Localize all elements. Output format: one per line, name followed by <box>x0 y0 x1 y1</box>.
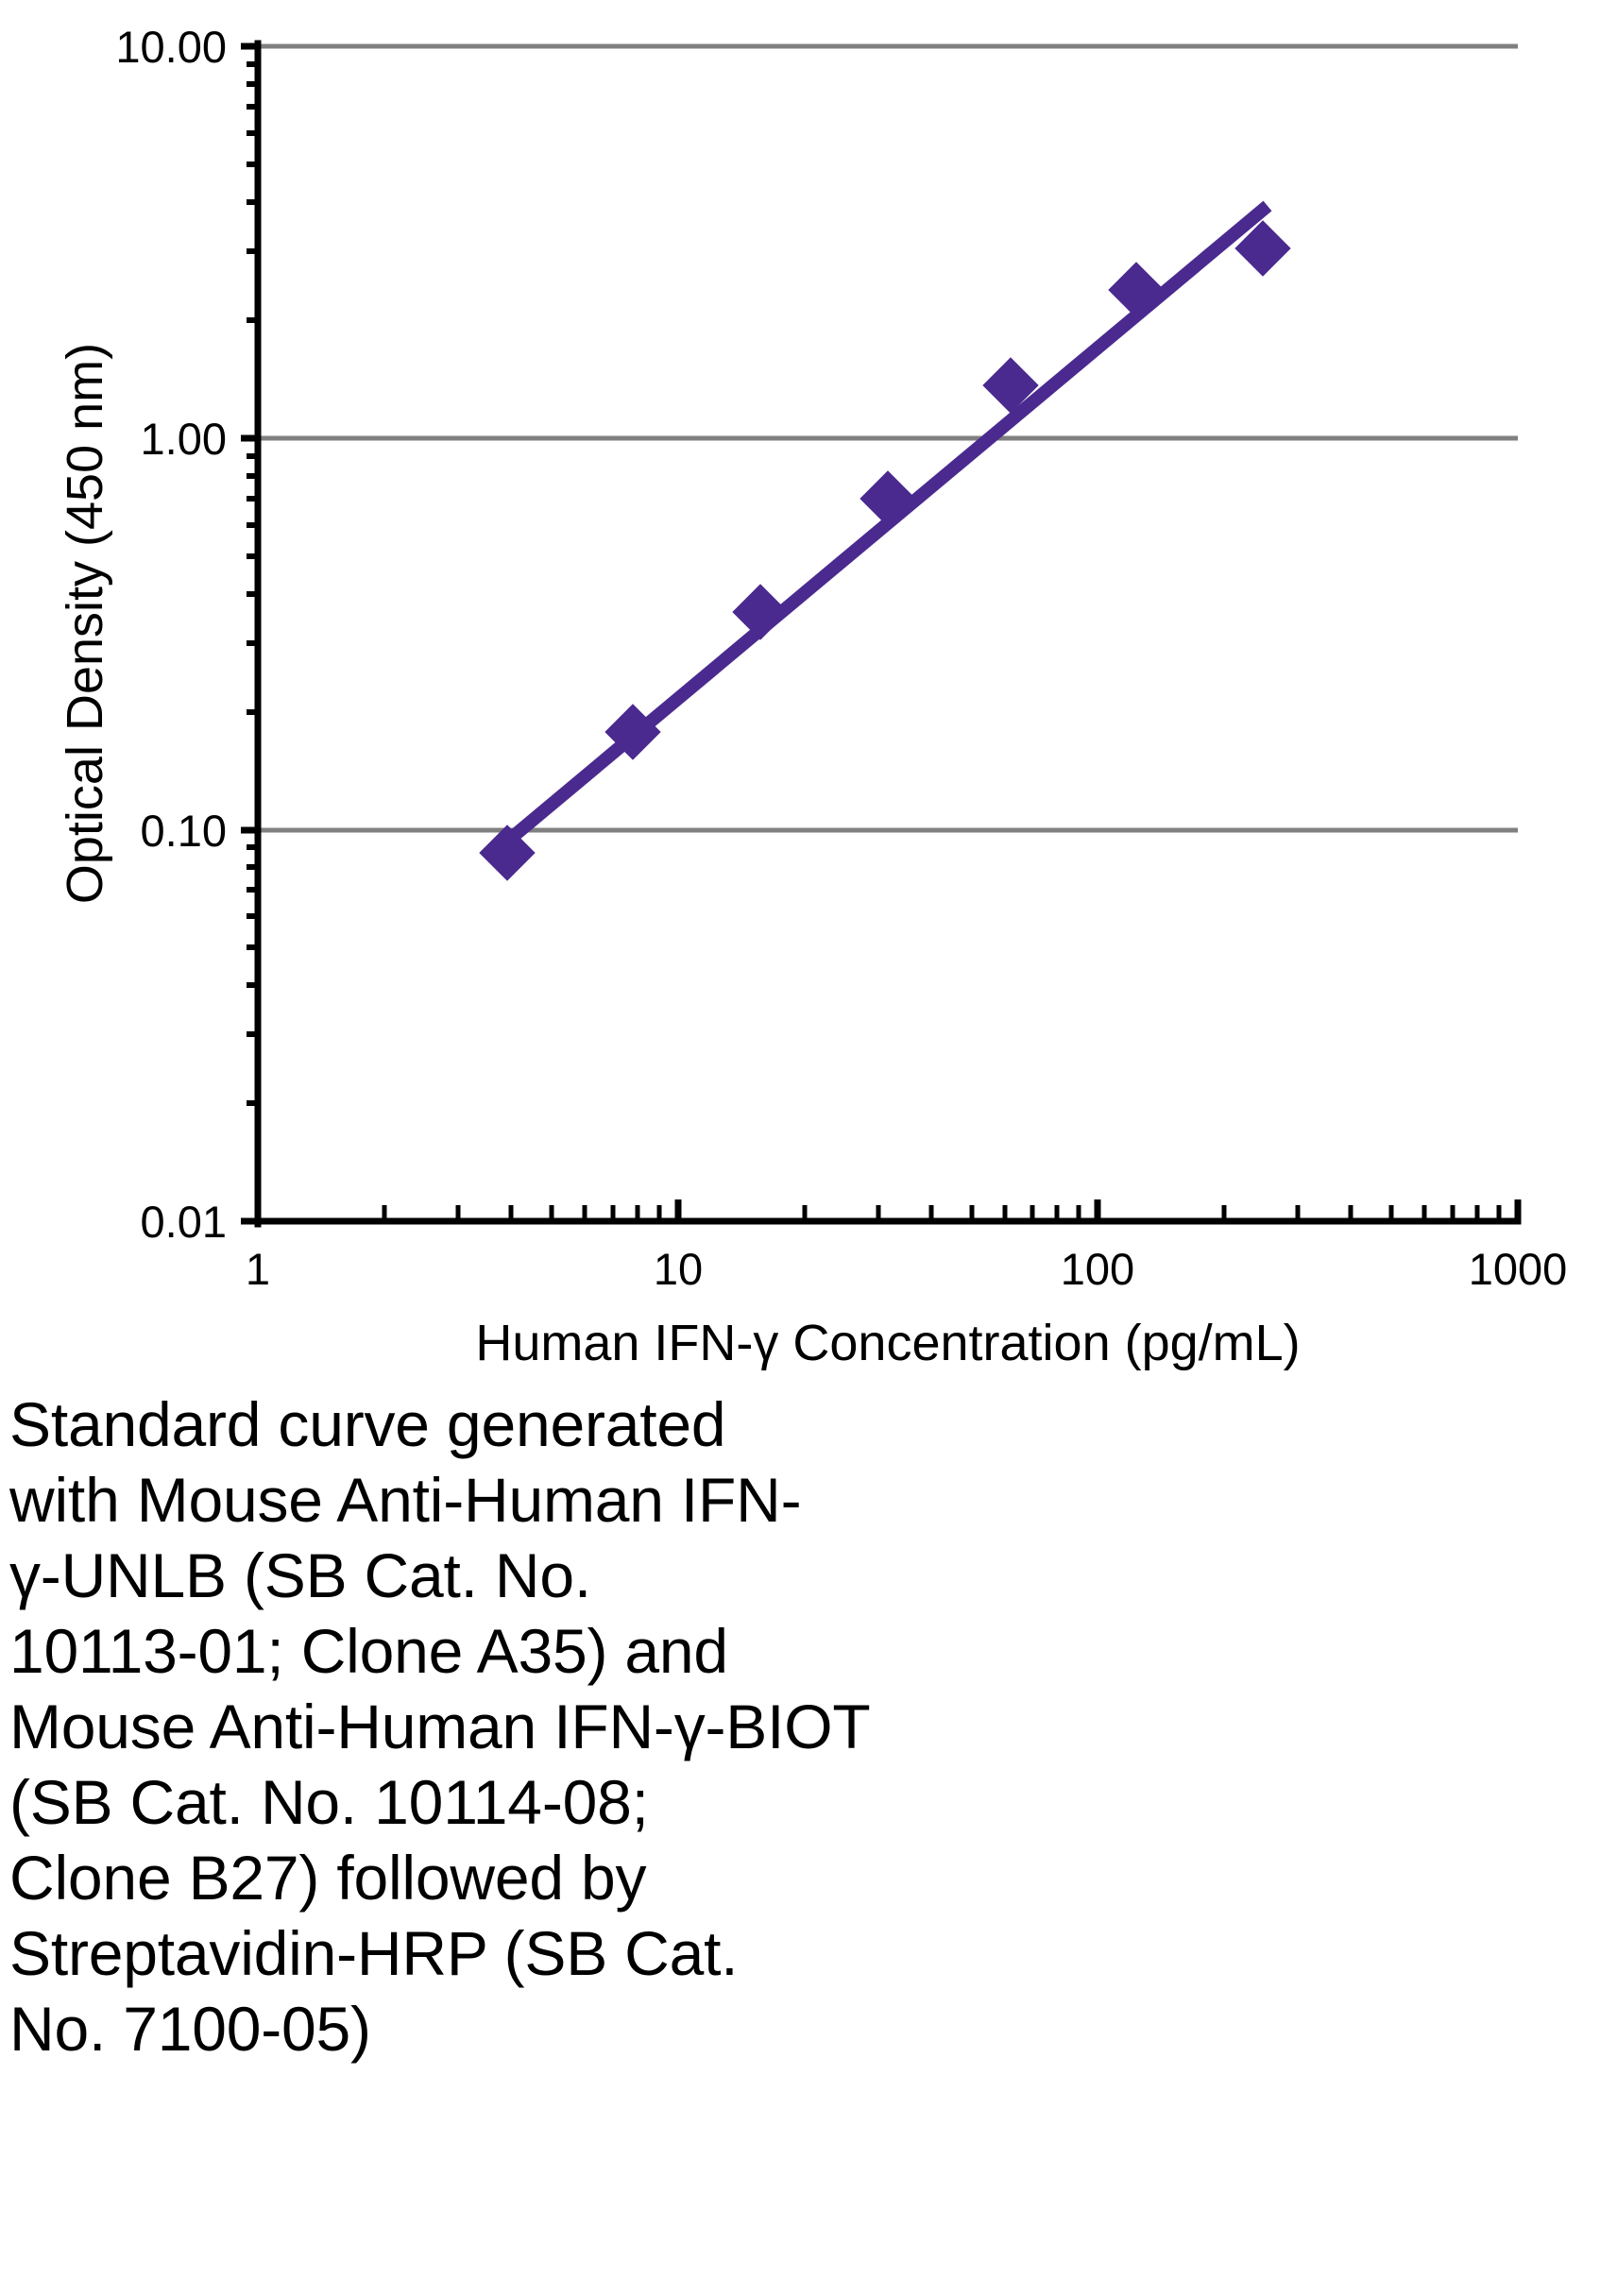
x-axis-title: Human IFN-γ Concentration (pg/mL) <box>475 1315 1300 1371</box>
caption-line: No. 7100-05) <box>9 1991 1048 2066</box>
data-point <box>860 470 915 526</box>
caption-line: (SB Cat. No. 10114-08; <box>9 1764 1048 1840</box>
data-point <box>732 584 788 639</box>
x-tick-label: 1 <box>246 1244 270 1294</box>
caption-line: γ-UNLB (SB Cat. No. <box>9 1538 1048 1613</box>
figure-caption: Standard curve generated with Mouse Anti… <box>9 1386 1048 2066</box>
caption-line: 10113-01; Clone A35) and <box>9 1613 1048 1689</box>
caption-line: Streptavidin-HRP (SB Cat. <box>9 1915 1048 1991</box>
y-axis-tick-labels: 10.00 1.00 0.10 0.01 <box>115 22 227 1247</box>
gridlines <box>258 46 1518 830</box>
data-point-markers <box>479 220 1290 880</box>
x-tick-label: 100 <box>1061 1244 1134 1294</box>
data-point <box>1108 262 1164 317</box>
x-axis-tick-labels: 1 10 100 1000 <box>246 1244 1567 1294</box>
y-tick-label: 0.10 <box>141 806 227 856</box>
y-tick-label: 10.00 <box>115 22 227 72</box>
y-axis-title: Optical Density (450 nm) <box>57 343 113 904</box>
y-tick-label: 0.01 <box>141 1197 227 1247</box>
x-tick-label: 1000 <box>1469 1244 1568 1294</box>
chart-figure: 10.00 1.00 0.10 0.01 1 10 100 1000 Optic… <box>0 0 1600 1379</box>
x-tick-label: 10 <box>654 1244 703 1294</box>
caption-line: with Mouse Anti-Human IFN- <box>9 1462 1048 1538</box>
caption-line: Mouse Anti-Human IFN-γ-BIOT <box>9 1689 1048 1764</box>
caption-line: Standard curve generated <box>9 1386 1048 1462</box>
caption-line: Clone B27) followed by <box>9 1840 1048 1915</box>
y-tick-label: 1.00 <box>141 414 227 464</box>
standard-curve-chart: 10.00 1.00 0.10 0.01 1 10 100 1000 Optic… <box>0 0 1600 1379</box>
